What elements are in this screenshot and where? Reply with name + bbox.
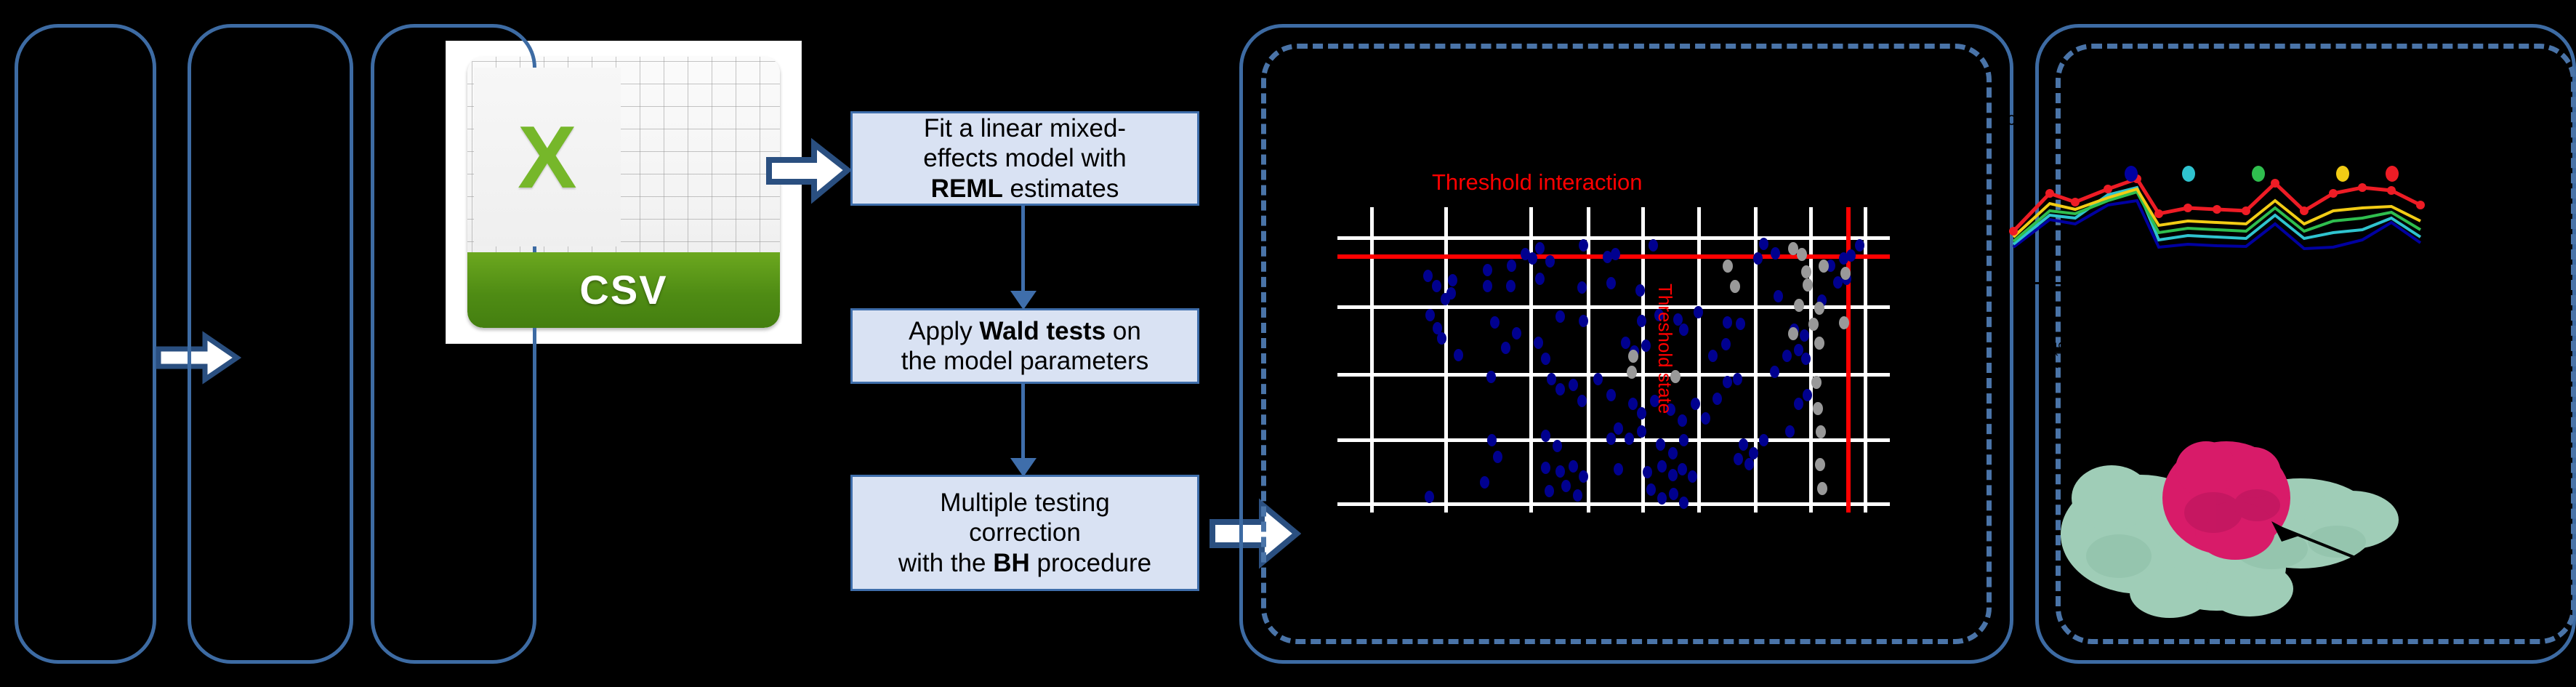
connector-2-3 — [1021, 384, 1025, 467]
peptide-tick — [2356, 284, 2357, 295]
flow-arrow-2 — [765, 132, 852, 209]
csv-label-text: CSV — [579, 266, 667, 313]
protein-structure-image — [2032, 403, 2410, 622]
mt-line1: Multiple testing — [940, 489, 1109, 517]
peptide-tick-label: 218-237 — [2391, 318, 2407, 369]
mt-bh-bold: BH — [993, 549, 1030, 577]
mt-line3-post: procedure — [1030, 549, 1151, 577]
peptide-tick-label: 277-284 — [2484, 318, 2500, 369]
peptide-axis-title: Peptide — [2224, 382, 2286, 403]
peptide-tick-label: 1-15 — [2053, 342, 2069, 369]
wald-line1-post: on — [1106, 317, 1141, 345]
peptide-tick — [2048, 284, 2050, 295]
peptide-tick-group: 1-1528-4463-7367-7581-101122-129135-1441… — [2028, 284, 2508, 378]
fit-model-reml: REML — [931, 174, 1003, 203]
peptide-tick-label: 167-180 — [2299, 318, 2315, 369]
peptide-tick-label: 135-144 — [2238, 318, 2254, 369]
peptide-tick — [2233, 284, 2234, 295]
input-stage-panel — [15, 24, 156, 664]
threshold-interaction-label: Threshold interaction — [1432, 169, 1643, 196]
binding-interface-annotation: Binding interface — [2391, 563, 2458, 603]
wald-tests-bold: Wald tests — [979, 317, 1106, 345]
peptide-tick — [2386, 284, 2388, 295]
peptide-tick — [2110, 284, 2112, 295]
peptide-tick-label: 200-214 — [2361, 318, 2377, 369]
mt-line3-pre: with the — [898, 549, 993, 577]
csv-file-icon: X CSV — [446, 41, 801, 343]
connector-arrowhead-1 — [1010, 291, 1037, 310]
peptide-tick-label: 28-44 — [2084, 334, 2100, 369]
wald-tests-step-box[interactable]: Apply Wald tests on the model parameters — [850, 308, 1199, 384]
csv-icon-body: X CSV — [467, 57, 779, 329]
multiple-testing-step-box[interactable]: Multiple testing correction with the BH … — [850, 475, 1199, 591]
peptide-tick — [2263, 284, 2265, 295]
connector-1-2 — [1021, 206, 1025, 300]
peptide-tick-label: 122-129 — [2207, 318, 2223, 369]
y-tick-label: 0.0 — [2008, 113, 2028, 129]
threshold-state-label: Threshold state — [1654, 284, 1676, 414]
wald-line1-pre: Apply — [909, 317, 979, 345]
csv-x-letter: X — [474, 68, 621, 247]
csv-label-band: CSV — [467, 252, 779, 329]
csv-stage-panel — [188, 24, 353, 664]
fit-model-step-box[interactable]: Fit a linear mixed- effects model with R… — [850, 111, 1199, 206]
peptide-tick-label: 258-266 — [2453, 318, 2469, 369]
peptide-tick-label: 81-101 — [2176, 326, 2192, 369]
threshold-scatter-plot: Threshold interaction — [1330, 153, 1897, 516]
peptide-tick-label: 184-199 — [2330, 318, 2346, 369]
peptide-tick — [2141, 284, 2142, 295]
wald-line2: the model parameters — [901, 347, 1148, 375]
scatter-grid — [1337, 207, 1890, 513]
peptide-tick — [2202, 284, 2204, 295]
peptide-tick — [2171, 284, 2173, 295]
peptide-tick — [2294, 284, 2295, 295]
peptide-tick-label: 241-257 — [2423, 318, 2439, 369]
binding-interface-line1: Binding — [2391, 563, 2458, 584]
binding-interface-line2: interface — [2391, 584, 2458, 604]
peptide-tick-label: 158-166 — [2269, 318, 2285, 369]
peptide-tick — [2325, 284, 2327, 295]
fit-model-line2: effects model with — [923, 144, 1127, 172]
peptide-tick — [2448, 284, 2450, 295]
peptide-tick — [2079, 284, 2080, 295]
fit-model-line3-rest: estimates — [1003, 174, 1119, 203]
peptide-tick-label: 63-73 — [2115, 334, 2131, 369]
peptide-tick — [2479, 284, 2480, 295]
fit-model-line1: Fit a linear mixed- — [924, 114, 1126, 142]
peptide-tick — [2418, 284, 2419, 295]
mt-line2: correction — [969, 518, 1081, 547]
peptide-tick-label: 67-75 — [2146, 334, 2162, 369]
